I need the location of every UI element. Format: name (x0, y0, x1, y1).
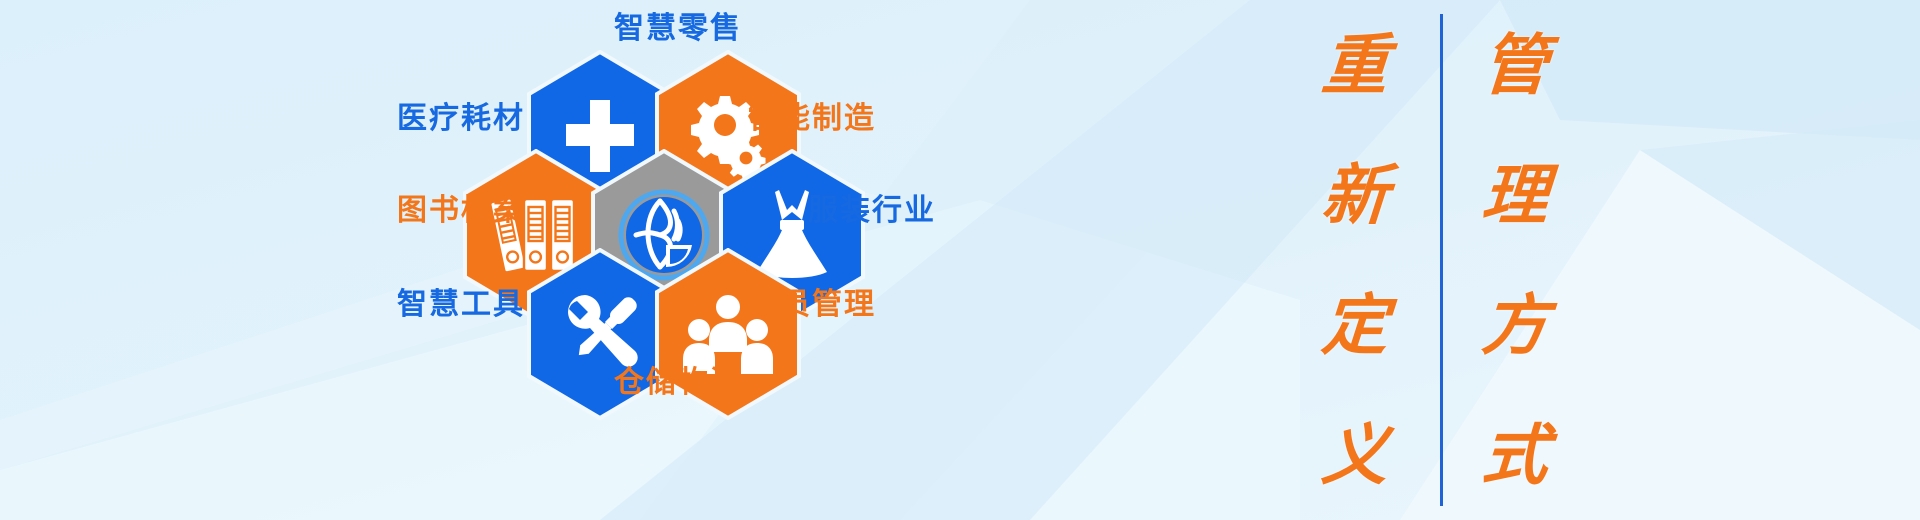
slogan-divider (1440, 14, 1443, 506)
label-books-archives: 图书档案 (285, 196, 525, 226)
slogan-block: 重 新 定 义 管 理 方 式 (1300, 0, 1600, 520)
slogan-column-left: 重 新 定 义 (1300, 0, 1410, 520)
label-warehouse-logistics: 仓储物流 (558, 368, 798, 398)
slogan-char: 方 (1480, 292, 1551, 358)
slogan-char: 义 (1320, 422, 1391, 488)
label-smart-tools: 智慧工具 (330, 290, 525, 320)
label-medical-supplies: 医疗耗材 (330, 104, 525, 134)
slogan-char: 重 (1320, 32, 1391, 98)
slogan-char: 定 (1320, 292, 1391, 358)
background-bands-svg (0, 0, 1920, 520)
slogan-char: 理 (1480, 162, 1551, 228)
slogan-char: 式 (1480, 422, 1551, 488)
background-decoration (0, 0, 1920, 520)
slogan-column-right: 管 理 方 式 (1460, 0, 1570, 520)
label-apparel-industry: 服装行业 (808, 196, 1048, 226)
label-personnel-management: 人员管理 (748, 290, 978, 320)
label-smart-retail: 智慧零售 (558, 14, 798, 44)
banner-canvas: 智慧零售 医疗耗材 智能制造 图书档案 服装行业 智慧工具 人员管理 仓储物流 … (0, 0, 1920, 520)
slogan-char: 管 (1480, 32, 1551, 98)
slogan-char: 新 (1320, 162, 1391, 228)
label-smart-manufacturing: 智能制造 (748, 104, 978, 134)
